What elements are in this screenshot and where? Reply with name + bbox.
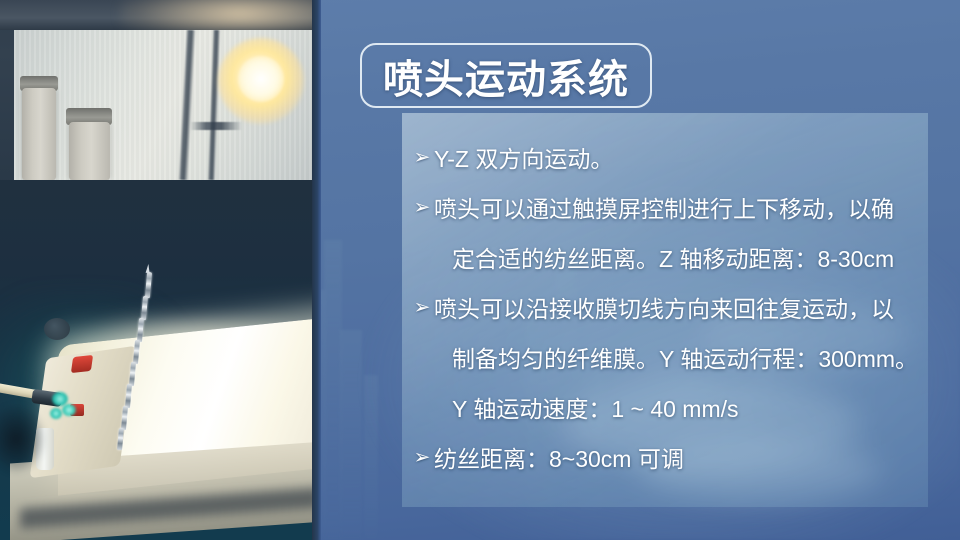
rotary-knob (44, 318, 70, 340)
list-item-continuation: 定合适的纺丝距离。Z 轴移动距离：8-30cm (402, 232, 928, 282)
red-marker-1 (71, 355, 93, 373)
list-item: ➢ Y-Z 双方向运动。 (402, 132, 928, 182)
list-item-text: 定合适的纺丝距离。Z 轴移动距离：8-30cm (452, 240, 894, 274)
bullet-arrow-icon: ➢ (410, 295, 434, 320)
list-item-text: Y-Z 双方向运动。 (434, 140, 613, 174)
bullet-list: ➢ Y-Z 双方向运动。 ➢ 喷头可以通过触摸屏控制进行上下移动，以确 定合适的… (402, 132, 928, 507)
list-item-text: 喷头可以沿接收膜切线方向来回往复运动，以 (434, 290, 894, 324)
foreground-shadow (0, 404, 46, 474)
needle-tip-1 (146, 264, 151, 273)
list-item-continuation: Y 轴运动速度：1 ~ 40 mm/s (402, 382, 928, 432)
page-title: 喷头运动系统 (366, 44, 646, 107)
list-item-text: 纺丝距离：8~30cm 可调 (434, 440, 684, 474)
led-teal-3 (50, 408, 62, 419)
list-item: ➢ 喷头可以通过触摸屏控制进行上下移动，以确 (402, 182, 928, 232)
list-item: ➢ 喷头可以沿接收膜切线方向来回往复运动，以 (402, 282, 928, 332)
list-item: ➢ 纺丝距离：8~30cm 可调 (402, 432, 928, 482)
bullet-arrow-icon: ➢ (410, 195, 434, 220)
list-item-text: 喷头可以通过触摸屏控制进行上下移动，以确 (434, 190, 894, 224)
slide-root: 喷头运动系统 ➢ Y-Z 双方向运动。 ➢ 喷头可以通过触摸屏控制进行上下移动，… (0, 0, 960, 540)
list-item-continuation: 制备均匀的纤维膜。Y 轴运动行程：300mm。 (402, 332, 928, 382)
jar-1 (22, 88, 56, 180)
led-teal-2 (62, 404, 76, 416)
photo-right-edge (312, 0, 321, 540)
lamp-core (238, 56, 284, 102)
jar-2 (69, 122, 110, 180)
cabinet-top-glow (120, 0, 312, 32)
bullet-arrow-icon: ➢ (410, 445, 434, 470)
bullet-arrow-icon: ➢ (410, 145, 434, 170)
list-item-text: Y 轴运动速度：1 ~ 40 mm/s (452, 390, 739, 424)
support-crossbar (190, 122, 242, 130)
equipment-photo (0, 0, 312, 540)
list-item-text: 制备均匀的纤维膜。Y 轴运动行程：300mm。 (452, 340, 918, 374)
